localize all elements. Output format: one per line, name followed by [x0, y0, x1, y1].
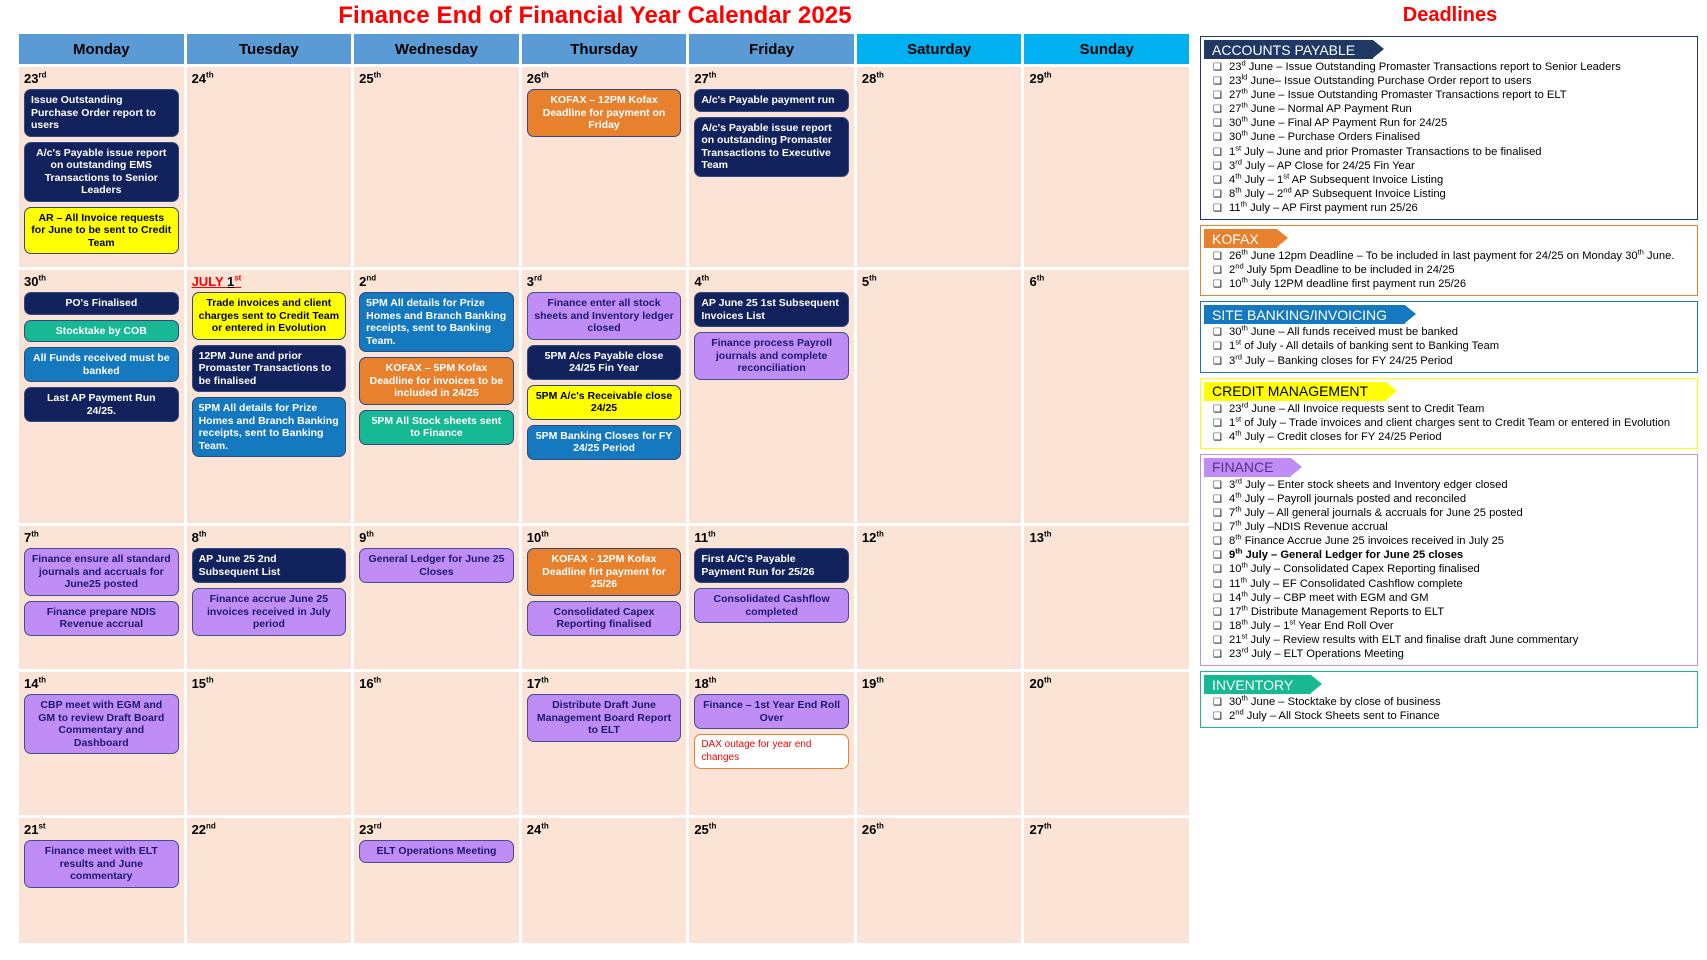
deadline-item-text: 18th July – 1st Year End Roll Over: [1229, 620, 1691, 634]
day-number: 29th: [1029, 71, 1184, 86]
day-number: 25th: [359, 71, 514, 86]
day-number: 30th: [24, 274, 179, 289]
calendar-event[interactable]: Finance enter all stock sheets and Inven…: [527, 292, 682, 340]
checkbox-icon[interactable]: ❑: [1213, 549, 1229, 563]
deadline-item-text: 26th June 12pm Deadline – To be included…: [1229, 250, 1691, 264]
deadline-list-item[interactable]: ❑10th July 12PM deadline first payment r…: [1201, 278, 1697, 292]
deadline-item-text: 3rd July – Enter stock sheets and Invent…: [1229, 479, 1691, 493]
day-cell-11[interactable]: 11thFirst A/C's Payable Payment Run for …: [689, 526, 854, 669]
deadline-item-text: 2nd July – All Stock Sheets sent to Fina…: [1229, 710, 1691, 724]
checkbox-icon[interactable]: ❑: [1213, 563, 1229, 577]
deadlines-title: Deadlines: [1200, 4, 1700, 27]
checkbox-icon[interactable]: ❑: [1213, 535, 1229, 549]
deadline-item-text: 30th June – Final AP Payment Run for 24/…: [1229, 117, 1691, 131]
day-number: 26th: [862, 822, 1017, 837]
calendar-week-row: 30thPO's FinalisedStocktake by COBAll Fu…: [19, 270, 1189, 523]
deadline-list: ❑26th June 12pm Deadline – To be include…: [1201, 250, 1697, 292]
day-number: 23rd: [359, 822, 514, 837]
calendar-event[interactable]: KOFAX – 12PM Kofax Deadline for payment …: [527, 89, 682, 137]
checkbox-icon[interactable]: ❑: [1213, 592, 1229, 606]
calendar-event[interactable]: A/c's Payable issue report on outstandin…: [694, 117, 849, 177]
checkbox-icon[interactable]: ❑: [1213, 578, 1229, 592]
day-cell-27[interactable]: 27thA/c's Payable payment runA/c's Payab…: [689, 67, 854, 267]
deadline-item-text: 10th July 12PM deadline first payment ru…: [1229, 278, 1691, 292]
day-cell-26[interactable]: 26th: [857, 818, 1022, 943]
deadline-banner-label: KOFAX: [1204, 229, 1277, 248]
day-number: 15th: [192, 676, 347, 691]
day-cell-24[interactable]: 24th: [522, 818, 687, 943]
deadline-list-item[interactable]: ❑30th June – All funds received must be …: [1201, 326, 1697, 340]
deadline-list-item[interactable]: ❑17th Distribute Management Reports to E…: [1201, 606, 1697, 620]
deadline-banner-label: ACCOUNTS PAYABLE: [1204, 40, 1373, 59]
deadline-item-text: 1st of July - All details of banking sen…: [1229, 340, 1691, 354]
deadline-list-item[interactable]: ❑9th July – General Ledger for June 25 c…: [1201, 549, 1697, 563]
deadline-list-item[interactable]: ❑7th July –NDIS Revenue accrual: [1201, 521, 1697, 535]
deadline-list: ❑3rd July – Enter stock sheets and Inven…: [1201, 479, 1697, 662]
day-cell-25[interactable]: 25th: [689, 818, 854, 943]
deadline-list-item[interactable]: ❑10th July – Consolidated Capex Reportin…: [1201, 563, 1697, 577]
deadline-group-finance: FINANCE❑3rd July – Enter stock sheets an…: [1200, 454, 1698, 666]
calendar-event[interactable]: Finance process Payroll journals and com…: [694, 332, 849, 380]
deadline-group-kofax: KOFAX❑26th June 12pm Deadline – To be in…: [1200, 225, 1698, 296]
deadline-list: ❑23d June – Issue Outstanding Promaster …: [1201, 61, 1697, 216]
day-number: 5th: [862, 274, 1017, 289]
deadline-item-text: 10th July – Consolidated Capex Reporting…: [1229, 563, 1691, 577]
checkbox-icon[interactable]: ❑: [1213, 355, 1229, 369]
checkbox-icon[interactable]: ❑: [1213, 117, 1229, 131]
checkbox-icon[interactable]: ❑: [1213, 431, 1229, 445]
deadline-banner-label: INVENTORY: [1204, 675, 1311, 694]
deadline-list-item[interactable]: ❑2nd July 5pm Deadline to be included in…: [1201, 264, 1697, 278]
deadline-item-text: 23rd July – ELT Operations Meeting: [1229, 648, 1691, 662]
day-number: JULY 1st: [192, 274, 347, 289]
day-cell-7[interactable]: 7thFinance ensure all standard journals …: [19, 526, 184, 669]
deadline-item-text: 1st July – June and prior Promaster Tran…: [1229, 146, 1691, 160]
day-number: 26th: [527, 71, 682, 86]
day-cell-12[interactable]: 12th: [857, 526, 1022, 669]
deadline-group-heading: SITE BANKING/INVOICING: [1204, 305, 1697, 324]
day-number: 25th: [694, 822, 849, 837]
deadline-list-item[interactable]: ❑27th June – Normal AP Payment Run: [1201, 103, 1697, 117]
checkbox-icon[interactable]: ❑: [1213, 326, 1229, 340]
day-cell-10[interactable]: 10thKOFAX - 12PM Kofax Deadline firt pay…: [522, 526, 687, 669]
calendar-event[interactable]: Trade invoices and client charges sent t…: [192, 292, 347, 340]
day-cell-13[interactable]: 13th: [1024, 526, 1189, 669]
day-number: 28th: [862, 71, 1017, 86]
checkbox-icon[interactable]: ❑: [1213, 648, 1229, 662]
deadline-item-text: 11th July – EF Consolidated Cashflow com…: [1229, 578, 1691, 592]
deadline-group-heading: INVENTORY: [1204, 675, 1697, 694]
calendar-event[interactable]: A/c's Payable issue report on outstandin…: [24, 142, 179, 202]
weekday-header-monday: Monday: [19, 34, 184, 64]
deadline-list-item[interactable]: ❑4th July – Payroll journals posted and …: [1201, 493, 1697, 507]
calendar-event[interactable]: AP June 25 1st Subsequent Invoices List: [694, 292, 849, 327]
checkbox-icon[interactable]: ❑: [1213, 340, 1229, 354]
deadline-item-text: 9th July – General Ledger for June 25 cl…: [1229, 549, 1691, 563]
checkbox-icon[interactable]: ❑: [1213, 278, 1229, 292]
checkbox-icon[interactable]: ❑: [1213, 131, 1229, 145]
deadline-item-text: 1st of July – Trade invoices and client …: [1229, 417, 1691, 431]
calendar-event[interactable]: First A/C's Payable Payment Run for 25/2…: [694, 548, 849, 583]
calendar-event[interactable]: 5PM A/cs Payable close 24/25 Fin Year: [527, 345, 682, 380]
day-cell-5[interactable]: 5th: [857, 270, 1022, 523]
checkbox-icon[interactable]: ❑: [1213, 606, 1229, 620]
deadline-list-item[interactable]: ❑30th June – Final AP Payment Run for 24…: [1201, 117, 1697, 131]
day-cell-6[interactable]: 6th: [1024, 270, 1189, 523]
deadline-item-text: 23d June – Issue Outstanding Promaster T…: [1229, 61, 1691, 75]
day-number: 10th: [527, 530, 682, 545]
day-number: 14th: [24, 676, 179, 691]
deadline-list-item[interactable]: ❑8th Finance Accrue June 25 invoices rec…: [1201, 535, 1697, 549]
calendar-event[interactable]: 5PM All details for Prize Homes and Bran…: [192, 397, 347, 457]
deadlines-panel: ACCOUNTS PAYABLE❑23d June – Issue Outsta…: [1200, 36, 1698, 733]
deadline-group-accounts-payable: ACCOUNTS PAYABLE❑23d June – Issue Outsta…: [1200, 36, 1698, 220]
calendar-week-row: 21stFinance meet with ELT results and Ju…: [19, 818, 1189, 943]
deadline-item-text: 4th July – Credit closes for FY 24/25 Pe…: [1229, 431, 1691, 445]
day-cell-19[interactable]: 19th: [857, 672, 1022, 815]
deadline-item-text: 17th Distribute Management Reports to EL…: [1229, 606, 1691, 620]
deadline-item-text: 3rd July – AP Close for 24/25 Fin Year: [1229, 160, 1691, 174]
deadline-list-item[interactable]: ❑1st of July – Trade invoices and client…: [1201, 417, 1697, 431]
deadline-list-item[interactable]: ❑23rd June – All Invoice requests sent t…: [1201, 403, 1697, 417]
day-number: 19th: [862, 676, 1017, 691]
weekday-header-thursday: Thursday: [522, 34, 687, 64]
weekday-header-tuesday: Tuesday: [187, 34, 352, 64]
checkbox-icon[interactable]: ❑: [1213, 521, 1229, 535]
day-number: 4th: [694, 274, 849, 289]
day-number: 24th: [192, 71, 347, 86]
checkbox-icon[interactable]: ❑: [1213, 202, 1229, 216]
calendar-event[interactable]: 5PM A/c's Receivable close 24/25: [527, 385, 682, 420]
deadline-banner-label: FINANCE: [1204, 458, 1291, 477]
checkbox-icon[interactable]: ❑: [1213, 620, 1229, 634]
checkbox-icon[interactable]: ❑: [1213, 61, 1229, 75]
deadline-list-item[interactable]: ❑8th July – 2nd AP Subsequent Invoice Li…: [1201, 188, 1697, 202]
deadline-list-item[interactable]: ❑1st of July - All details of banking se…: [1201, 340, 1697, 354]
deadline-list-item[interactable]: ❑1st July – June and prior Promaster Tra…: [1201, 146, 1697, 160]
deadline-item-text: 3rd July – Banking closes for FY 24/25 P…: [1229, 355, 1691, 369]
weekday-header-saturday: Saturday: [857, 34, 1022, 64]
deadline-group-heading: ACCOUNTS PAYABLE: [1204, 40, 1697, 59]
deadline-list-item[interactable]: ❑27th June – Issue Outstanding Promaster…: [1201, 89, 1697, 103]
deadline-item-text: 23rd June – All Invoice requests sent to…: [1229, 403, 1691, 417]
day-cell-21[interactable]: 21stFinance meet with ELT results and Ju…: [19, 818, 184, 943]
day-cell-30[interactable]: 30thPO's FinalisedStocktake by COBAll Fu…: [19, 270, 184, 523]
deadline-group-heading: KOFAX: [1204, 229, 1697, 248]
deadline-list-item[interactable]: ❑30th June – Stocktake by close of busin…: [1201, 696, 1697, 710]
checkbox-icon[interactable]: ❑: [1213, 103, 1229, 117]
calendar-event[interactable]: Last AP Payment Run 24/25.: [24, 387, 179, 422]
day-cell-1[interactable]: JULY 1stTrade invoices and client charge…: [187, 270, 352, 523]
deadline-list-item[interactable]: ❑4th July – Credit closes for FY 24/25 P…: [1201, 431, 1697, 445]
deadline-list-item[interactable]: ❑14th July – CBP meet with EGM and GM: [1201, 592, 1697, 606]
deadline-banner-label: CREDIT MANAGEMENT: [1204, 382, 1386, 401]
day-number: 27th: [694, 71, 849, 86]
deadline-item-text: 8th July – 2nd AP Subsequent Invoice Lis…: [1229, 188, 1691, 202]
deadline-item-text: 14th July – CBP meet with EGM and GM: [1229, 592, 1691, 606]
checkbox-icon[interactable]: ❑: [1213, 493, 1229, 507]
deadline-list-item[interactable]: ❑3rd July – Banking closes for FY 24/25 …: [1201, 355, 1697, 369]
calendar-event[interactable]: All Funds received must be banked: [24, 347, 179, 382]
deadline-list-item[interactable]: ❑2nd July – All Stock Sheets sent to Fin…: [1201, 710, 1697, 724]
deadline-list-item[interactable]: ❑3rd July – Enter stock sheets and Inven…: [1201, 479, 1697, 493]
calendar-event[interactable]: 12PM June and prior Promaster Transactio…: [192, 345, 347, 393]
day-cell-16[interactable]: 16th: [354, 672, 519, 815]
calendar-week-row: 14thCBP meet with EGM and GM to review D…: [19, 672, 1189, 815]
deadline-item-text: 7th July – All general journals & accrua…: [1229, 507, 1691, 521]
day-cell-4[interactable]: 4thAP June 25 1st Subsequent Invoices Li…: [689, 270, 854, 523]
day-number: 17th: [527, 676, 682, 691]
deadline-item-text: 30th June – Stocktake by close of busine…: [1229, 696, 1691, 710]
calendar-event[interactable]: Distribute Draft June Management Board R…: [527, 694, 682, 742]
calendar-event[interactable]: Consolidated Cashflow completed: [694, 588, 849, 623]
deadline-list-item[interactable]: ❑26th June 12pm Deadline – To be include…: [1201, 250, 1697, 264]
deadline-group-site-banking-invoicing: SITE BANKING/INVOICING❑30th June – All f…: [1200, 301, 1698, 372]
checkbox-icon[interactable]: ❑: [1213, 710, 1229, 724]
weekday-header-wednesday: Wednesday: [354, 34, 519, 64]
day-cell-15[interactable]: 15th: [187, 672, 352, 815]
calendar-event[interactable]: Stocktake by COB: [24, 320, 179, 343]
deadline-item-text: 8th Finance Accrue June 25 invoices rece…: [1229, 535, 1691, 549]
checkbox-icon[interactable]: ❑: [1213, 146, 1229, 160]
calendar-event[interactable]: ELT Operations Meeting: [359, 840, 514, 863]
calendar-event[interactable]: 5PM All details for Prize Homes and Bran…: [359, 292, 514, 352]
calendar-event[interactable]: PO's Finalised: [24, 292, 179, 315]
checkbox-icon[interactable]: ❑: [1213, 696, 1229, 710]
deadline-item-text: 2nd July 5pm Deadline to be included in …: [1229, 264, 1691, 278]
calendar-grid: MondayTuesdayWednesdayThursdayFridaySatu…: [19, 34, 1189, 954]
deadline-banner-label: SITE BANKING/INVOICING: [1204, 305, 1405, 324]
deadline-list: ❑30th June – Stocktake by close of busin…: [1201, 696, 1697, 724]
calendar-event[interactable]: Finance accrue June 25 invoices received…: [192, 588, 347, 636]
calendar-week-row: 7thFinance ensure all standard journals …: [19, 526, 1189, 669]
day-cell-2[interactable]: 2nd5PM All details for Prize Homes and B…: [354, 270, 519, 523]
day-number: 23rd: [24, 71, 179, 86]
checkbox-icon[interactable]: ❑: [1213, 174, 1229, 188]
deadline-list-item[interactable]: ❑23rd July – ELT Operations Meeting: [1201, 648, 1697, 662]
day-cell-29[interactable]: 29th: [1024, 67, 1189, 267]
day-number: 20th: [1029, 676, 1184, 691]
calendar-event[interactable]: Issue Outstanding Purchase Order report …: [24, 89, 179, 137]
deadline-item-text: 23ld June– Issue Outstanding Purchase Or…: [1229, 75, 1691, 89]
day-number: 8th: [192, 530, 347, 545]
checkbox-icon[interactable]: ❑: [1213, 417, 1229, 431]
deadline-list-item[interactable]: ❑11th July – AP First payment run 25/26: [1201, 202, 1697, 216]
deadline-group-heading: FINANCE: [1204, 458, 1697, 477]
calendar-week-row: 23rdIssue Outstanding Purchase Order rep…: [19, 67, 1189, 267]
day-cell-24[interactable]: 24th: [187, 67, 352, 267]
deadline-item-text: 21st July – Review results with ELT and …: [1229, 634, 1691, 648]
calendar-event[interactable]: Finance – 1st Year End Roll Over: [694, 694, 849, 729]
day-cell-17[interactable]: 17thDistribute Draft June Management Boa…: [522, 672, 687, 815]
day-cell-23[interactable]: 23rdIssue Outstanding Purchase Order rep…: [19, 67, 184, 267]
weekday-header-friday: Friday: [689, 34, 854, 64]
deadline-item-text: 4th July – 1st AP Subsequent Invoice Lis…: [1229, 174, 1691, 188]
deadline-list-item[interactable]: ❑18th July – 1st Year End Roll Over: [1201, 620, 1697, 634]
deadline-item-text: 30th June – All funds received must be b…: [1229, 326, 1691, 340]
deadline-item-text: 4th July – Payroll journals posted and r…: [1229, 493, 1691, 507]
day-cell-25[interactable]: 25th: [354, 67, 519, 267]
deadline-list: ❑30th June – All funds received must be …: [1201, 326, 1697, 368]
day-cell-8[interactable]: 8thAP June 25 2nd Subsequent ListFinance…: [187, 526, 352, 669]
calendar-event[interactable]: KOFAX – 5PM Kofax Deadline for invoices …: [359, 357, 514, 405]
day-cell-26[interactable]: 26thKOFAX – 12PM Kofax Deadline for paym…: [522, 67, 687, 267]
deadline-list-item[interactable]: ❑11th July – EF Consolidated Cashflow co…: [1201, 578, 1697, 592]
deadline-group-inventory: INVENTORY❑30th June – Stocktake by close…: [1200, 671, 1698, 728]
checkbox-icon[interactable]: ❑: [1213, 507, 1229, 521]
deadline-group-credit-management: CREDIT MANAGEMENT❑23rd June – All Invoic…: [1200, 378, 1698, 449]
deadline-list-item[interactable]: ❑4th July – 1st AP Subsequent Invoice Li…: [1201, 174, 1697, 188]
checkbox-icon[interactable]: ❑: [1213, 264, 1229, 278]
day-cell-27[interactable]: 27th: [1024, 818, 1189, 943]
deadline-item-text: 11th July – AP First payment run 25/26: [1229, 202, 1691, 216]
deadline-item-text: 27th June – Normal AP Payment Run: [1229, 103, 1691, 117]
calendar-event[interactable]: AP June 25 2nd Subsequent List: [192, 548, 347, 583]
day-number: 13th: [1029, 530, 1184, 545]
checkbox-icon[interactable]: ❑: [1213, 250, 1229, 264]
day-cell-3[interactable]: 3rdFinance enter all stock sheets and In…: [522, 270, 687, 523]
day-number: 24th: [527, 822, 682, 837]
calendar-event[interactable]: General Ledger for June 25 Closes: [359, 548, 514, 583]
day-cell-23[interactable]: 23rdELT Operations Meeting: [354, 818, 519, 943]
day-number: 7th: [24, 530, 179, 545]
day-number: 18th: [694, 676, 849, 691]
calendar-event[interactable]: CBP meet with EGM and GM to review Draft…: [24, 694, 179, 754]
day-cell-9[interactable]: 9thGeneral Ledger for June 25 Closes: [354, 526, 519, 669]
day-number: 27th: [1029, 822, 1184, 837]
deadline-list-item[interactable]: ❑30th June – Purchase Orders Finalised: [1201, 131, 1697, 145]
weekday-header-sunday: Sunday: [1024, 34, 1189, 64]
calendar-event[interactable]: 5PM All Stock sheets sent to Finance: [359, 410, 514, 445]
day-cell-18[interactable]: 18thFinance – 1st Year End Roll OverDAX …: [689, 672, 854, 815]
calendar-event[interactable]: Finance meet with ELT results and June c…: [24, 840, 179, 888]
checkbox-icon[interactable]: ❑: [1213, 403, 1229, 417]
deadline-group-heading: CREDIT MANAGEMENT: [1204, 382, 1697, 401]
checkbox-icon[interactable]: ❑: [1213, 479, 1229, 493]
checkbox-icon[interactable]: ❑: [1213, 75, 1229, 89]
page-title: Finance End of Financial Year Calendar 2…: [0, 2, 1190, 30]
deadline-list-item[interactable]: ❑7th July – All general journals & accru…: [1201, 507, 1697, 521]
day-number: 9th: [359, 530, 514, 545]
day-cell-20[interactable]: 20th: [1024, 672, 1189, 815]
deadline-list-item[interactable]: ❑23d June – Issue Outstanding Promaster …: [1201, 61, 1697, 75]
deadline-list-item[interactable]: ❑3rd July – AP Close for 24/25 Fin Year: [1201, 160, 1697, 174]
checkbox-icon[interactable]: ❑: [1213, 634, 1229, 648]
day-number: 21st: [24, 822, 179, 837]
day-number: 2nd: [359, 274, 514, 289]
calendar-event[interactable]: Finance prepare NDIS Revenue accrual: [24, 601, 179, 636]
day-cell-14[interactable]: 14thCBP meet with EGM and GM to review D…: [19, 672, 184, 815]
deadline-item-text: 30th June – Purchase Orders Finalised: [1229, 131, 1691, 145]
calendar-event[interactable]: AR – All Invoice requests for June to be…: [24, 207, 179, 255]
checkbox-icon[interactable]: ❑: [1213, 160, 1229, 174]
day-cell-28[interactable]: 28th: [857, 67, 1022, 267]
day-number: 3rd: [527, 274, 682, 289]
calendar-event[interactable]: DAX outage for year end changes: [694, 734, 849, 769]
day-number: 6th: [1029, 274, 1184, 289]
checkbox-icon[interactable]: ❑: [1213, 188, 1229, 202]
day-number: 12th: [862, 530, 1017, 545]
calendar-weeks: 23rdIssue Outstanding Purchase Order rep…: [19, 64, 1189, 943]
deadline-list: ❑23rd June – All Invoice requests sent t…: [1201, 403, 1697, 445]
day-number: 22nd: [192, 822, 347, 837]
checkbox-icon[interactable]: ❑: [1213, 89, 1229, 103]
weekday-header-row: MondayTuesdayWednesdayThursdayFridaySatu…: [19, 34, 1189, 64]
deadline-list-item[interactable]: ❑23ld June– Issue Outstanding Purchase O…: [1201, 75, 1697, 89]
day-cell-22[interactable]: 22nd: [187, 818, 352, 943]
deadline-item-text: 7th July –NDIS Revenue accrual: [1229, 521, 1691, 535]
calendar-event[interactable]: Finance ensure all standard journals and…: [24, 548, 179, 596]
day-number: 16th: [359, 676, 514, 691]
calendar-event[interactable]: KOFAX - 12PM Kofax Deadline firt payment…: [527, 548, 682, 596]
deadline-item-text: 27th June – Issue Outstanding Promaster …: [1229, 89, 1691, 103]
day-number: 11th: [694, 530, 849, 545]
deadline-list-item[interactable]: ❑21st July – Review results with ELT and…: [1201, 634, 1697, 648]
efy-calendar-page: Finance End of Financial Year Calendar 2…: [0, 0, 1707, 960]
calendar-event[interactable]: Consolidated Capex Reporting finalised: [527, 601, 682, 636]
calendar-event[interactable]: 5PM Banking Closes for FY 24/25 Period: [527, 425, 682, 460]
calendar-event[interactable]: A/c's Payable payment run: [694, 89, 849, 112]
